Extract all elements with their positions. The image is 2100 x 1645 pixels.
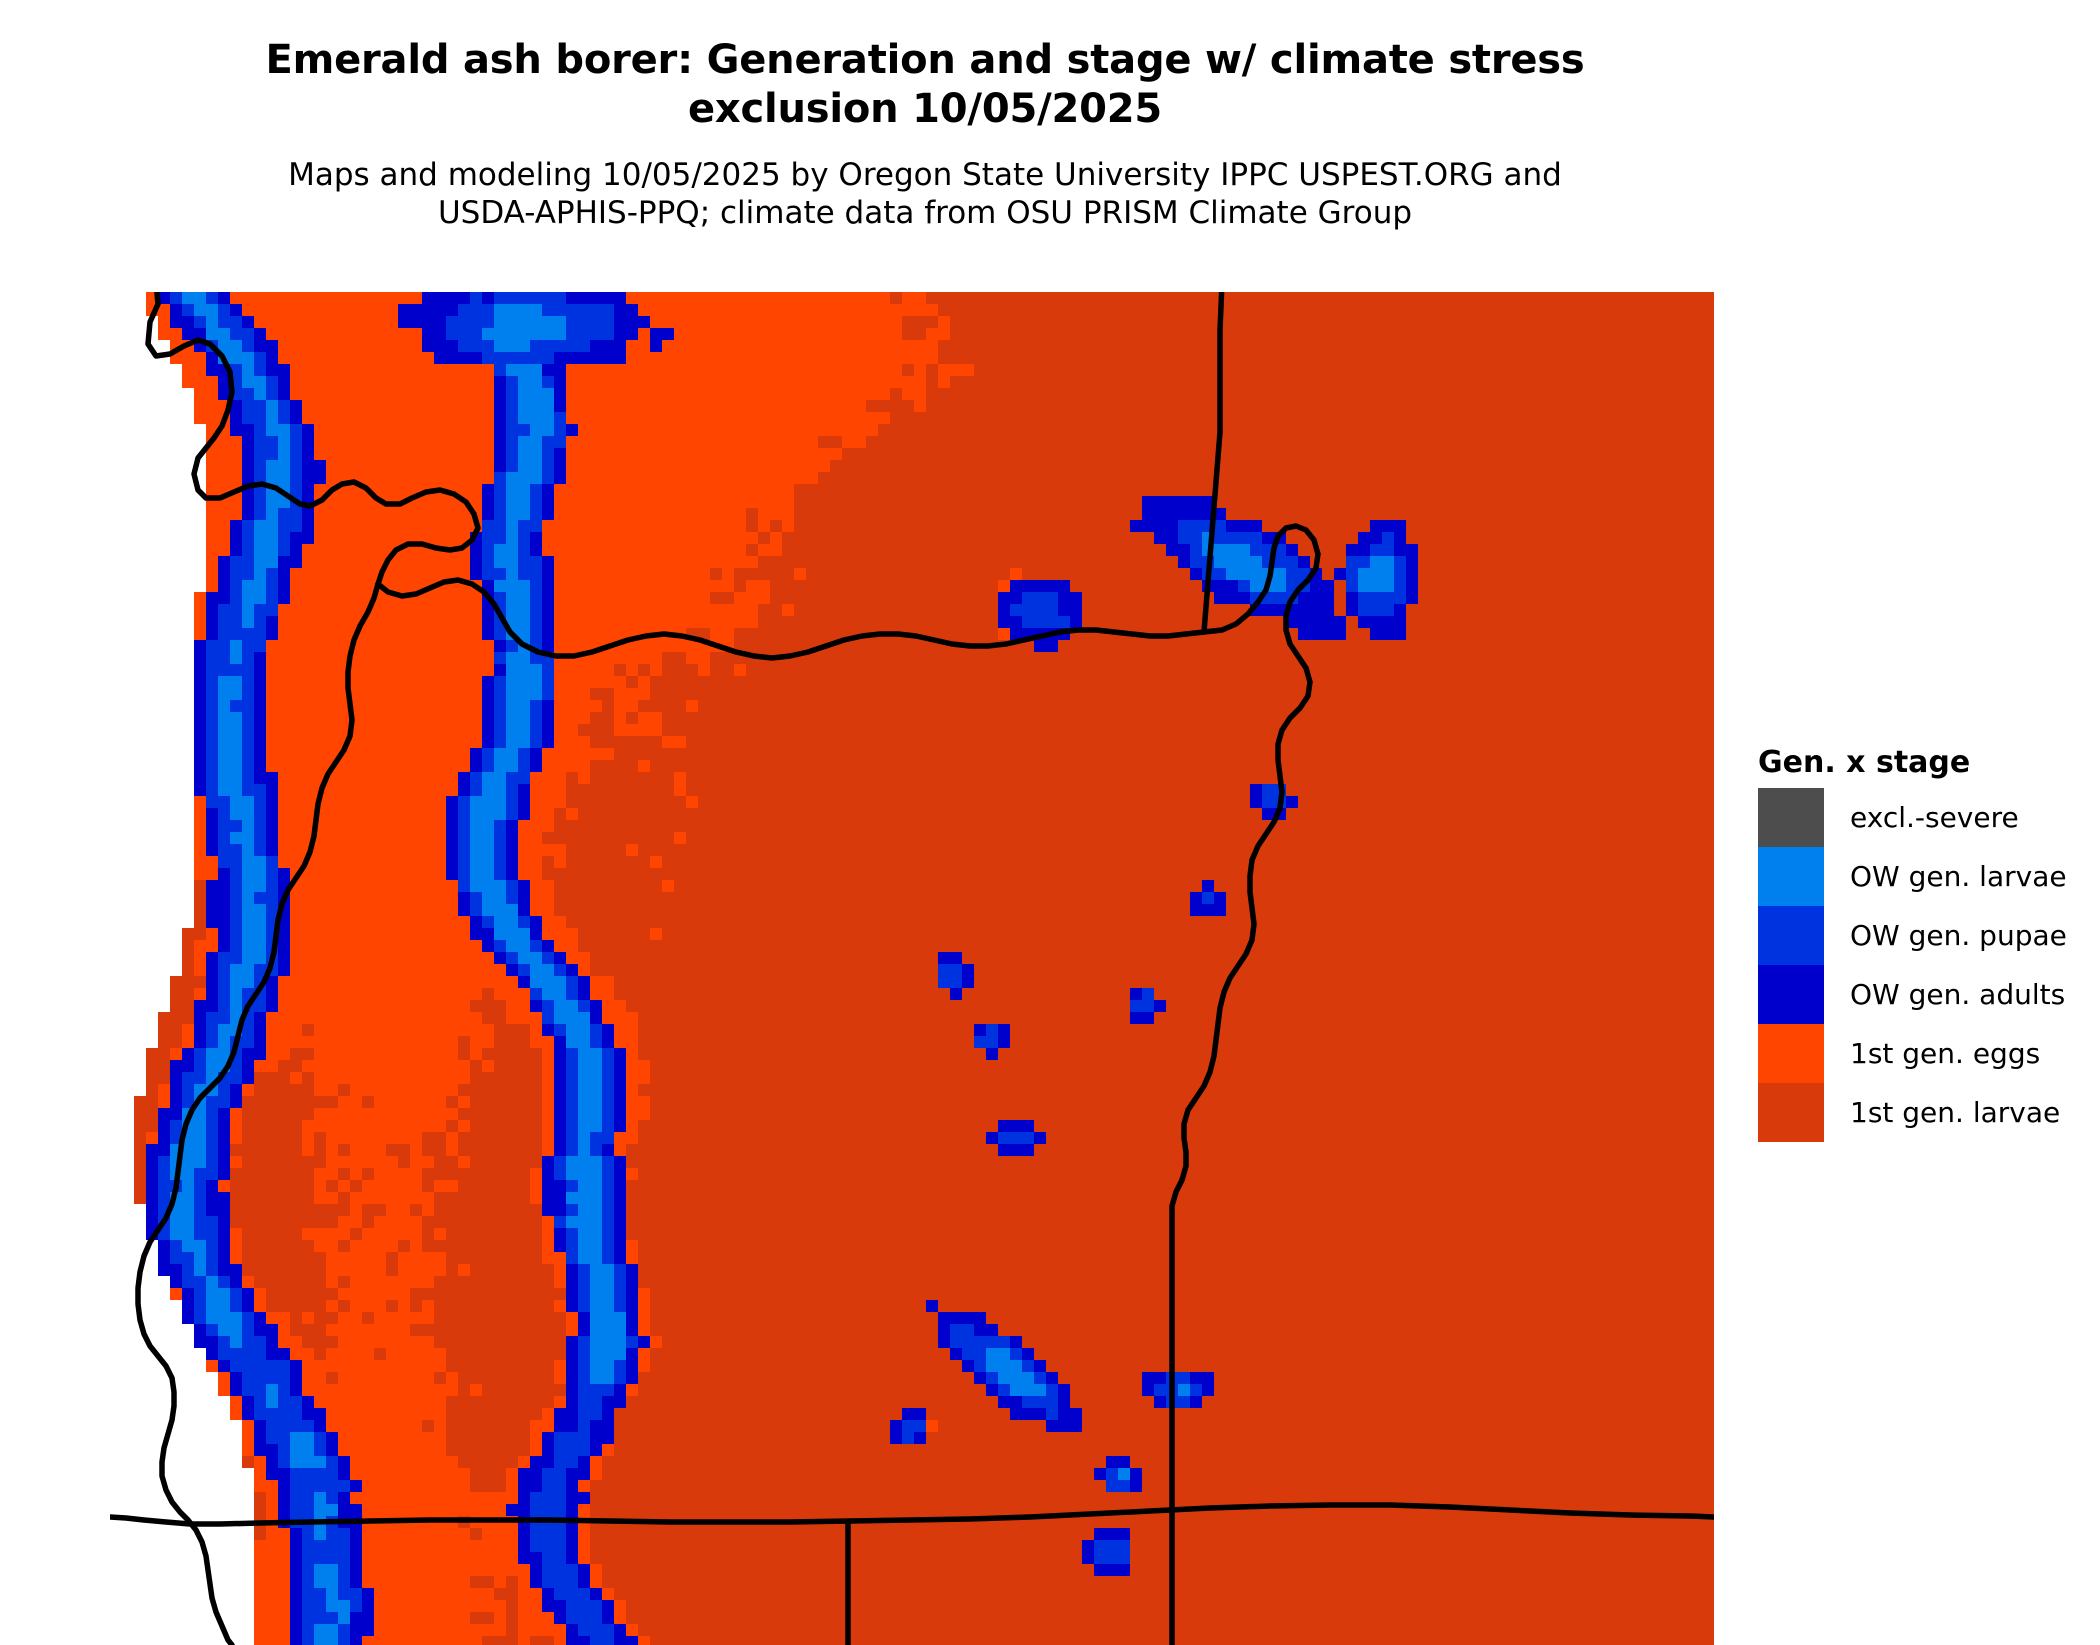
legend-swatch — [1758, 788, 1824, 847]
legend-item-label: 1st gen. larvae — [1850, 1099, 2060, 1127]
map-canvas[interactable] — [110, 292, 1714, 1645]
page-subtitle-line-2: USDA-APHIS-PPQ; climate data from OSU PR… — [438, 195, 1412, 231]
legend-item[interactable]: excl.-severe — [1758, 788, 2088, 847]
legend-swatch — [1758, 847, 1824, 906]
legend-item-label: 1st gen. eggs — [1850, 1040, 2040, 1068]
legend-swatch — [1758, 965, 1824, 1024]
legend-swatch — [1758, 1083, 1824, 1142]
page-title-line-2: exclusion 10/05/2025 — [688, 86, 1162, 132]
southern-border — [110, 1505, 1714, 1524]
legend-item[interactable]: OW gen. pupae — [1758, 906, 2088, 965]
map-header: Emerald ash borer: Generation and stage … — [0, 0, 1850, 233]
idaho-border — [1172, 526, 1318, 1645]
page-title: Emerald ash borer: Generation and stage … — [0, 0, 1850, 134]
oregon-coastline — [148, 292, 478, 584]
legend-items: excl.-severeOW gen. larvaeOW gen. pupaeO… — [1758, 788, 2088, 1142]
legend-item-label: OW gen. larvae — [1850, 863, 2067, 891]
legend-item[interactable]: 1st gen. eggs — [1758, 1024, 2088, 1083]
legend-swatch — [1758, 1024, 1824, 1083]
page-subtitle-line-1: Maps and modeling 10/05/2025 by Oregon S… — [288, 157, 1562, 193]
legend: Gen. x stage excl.-severeOW gen. larvaeO… — [1758, 748, 2088, 1142]
page-title-line-1: Emerald ash borer: Generation and stage … — [265, 37, 1584, 83]
legend-swatch — [1758, 906, 1824, 965]
map-boundary-layer — [110, 292, 1714, 1645]
legend-title: Gen. x stage — [1758, 748, 2088, 778]
legend-item-label: OW gen. pupae — [1850, 922, 2067, 950]
washington-border — [378, 292, 1222, 658]
legend-item[interactable]: OW gen. larvae — [1758, 847, 2088, 906]
page-subtitle: Maps and modeling 10/05/2025 by Oregon S… — [0, 134, 1850, 234]
legend-item[interactable]: OW gen. adults — [1758, 965, 2088, 1024]
legend-item-label: OW gen. adults — [1850, 981, 2065, 1009]
legend-item-label: excl.-severe — [1850, 804, 2019, 832]
southwest-coast — [138, 584, 378, 1645]
legend-item[interactable]: 1st gen. larvae — [1758, 1083, 2088, 1142]
